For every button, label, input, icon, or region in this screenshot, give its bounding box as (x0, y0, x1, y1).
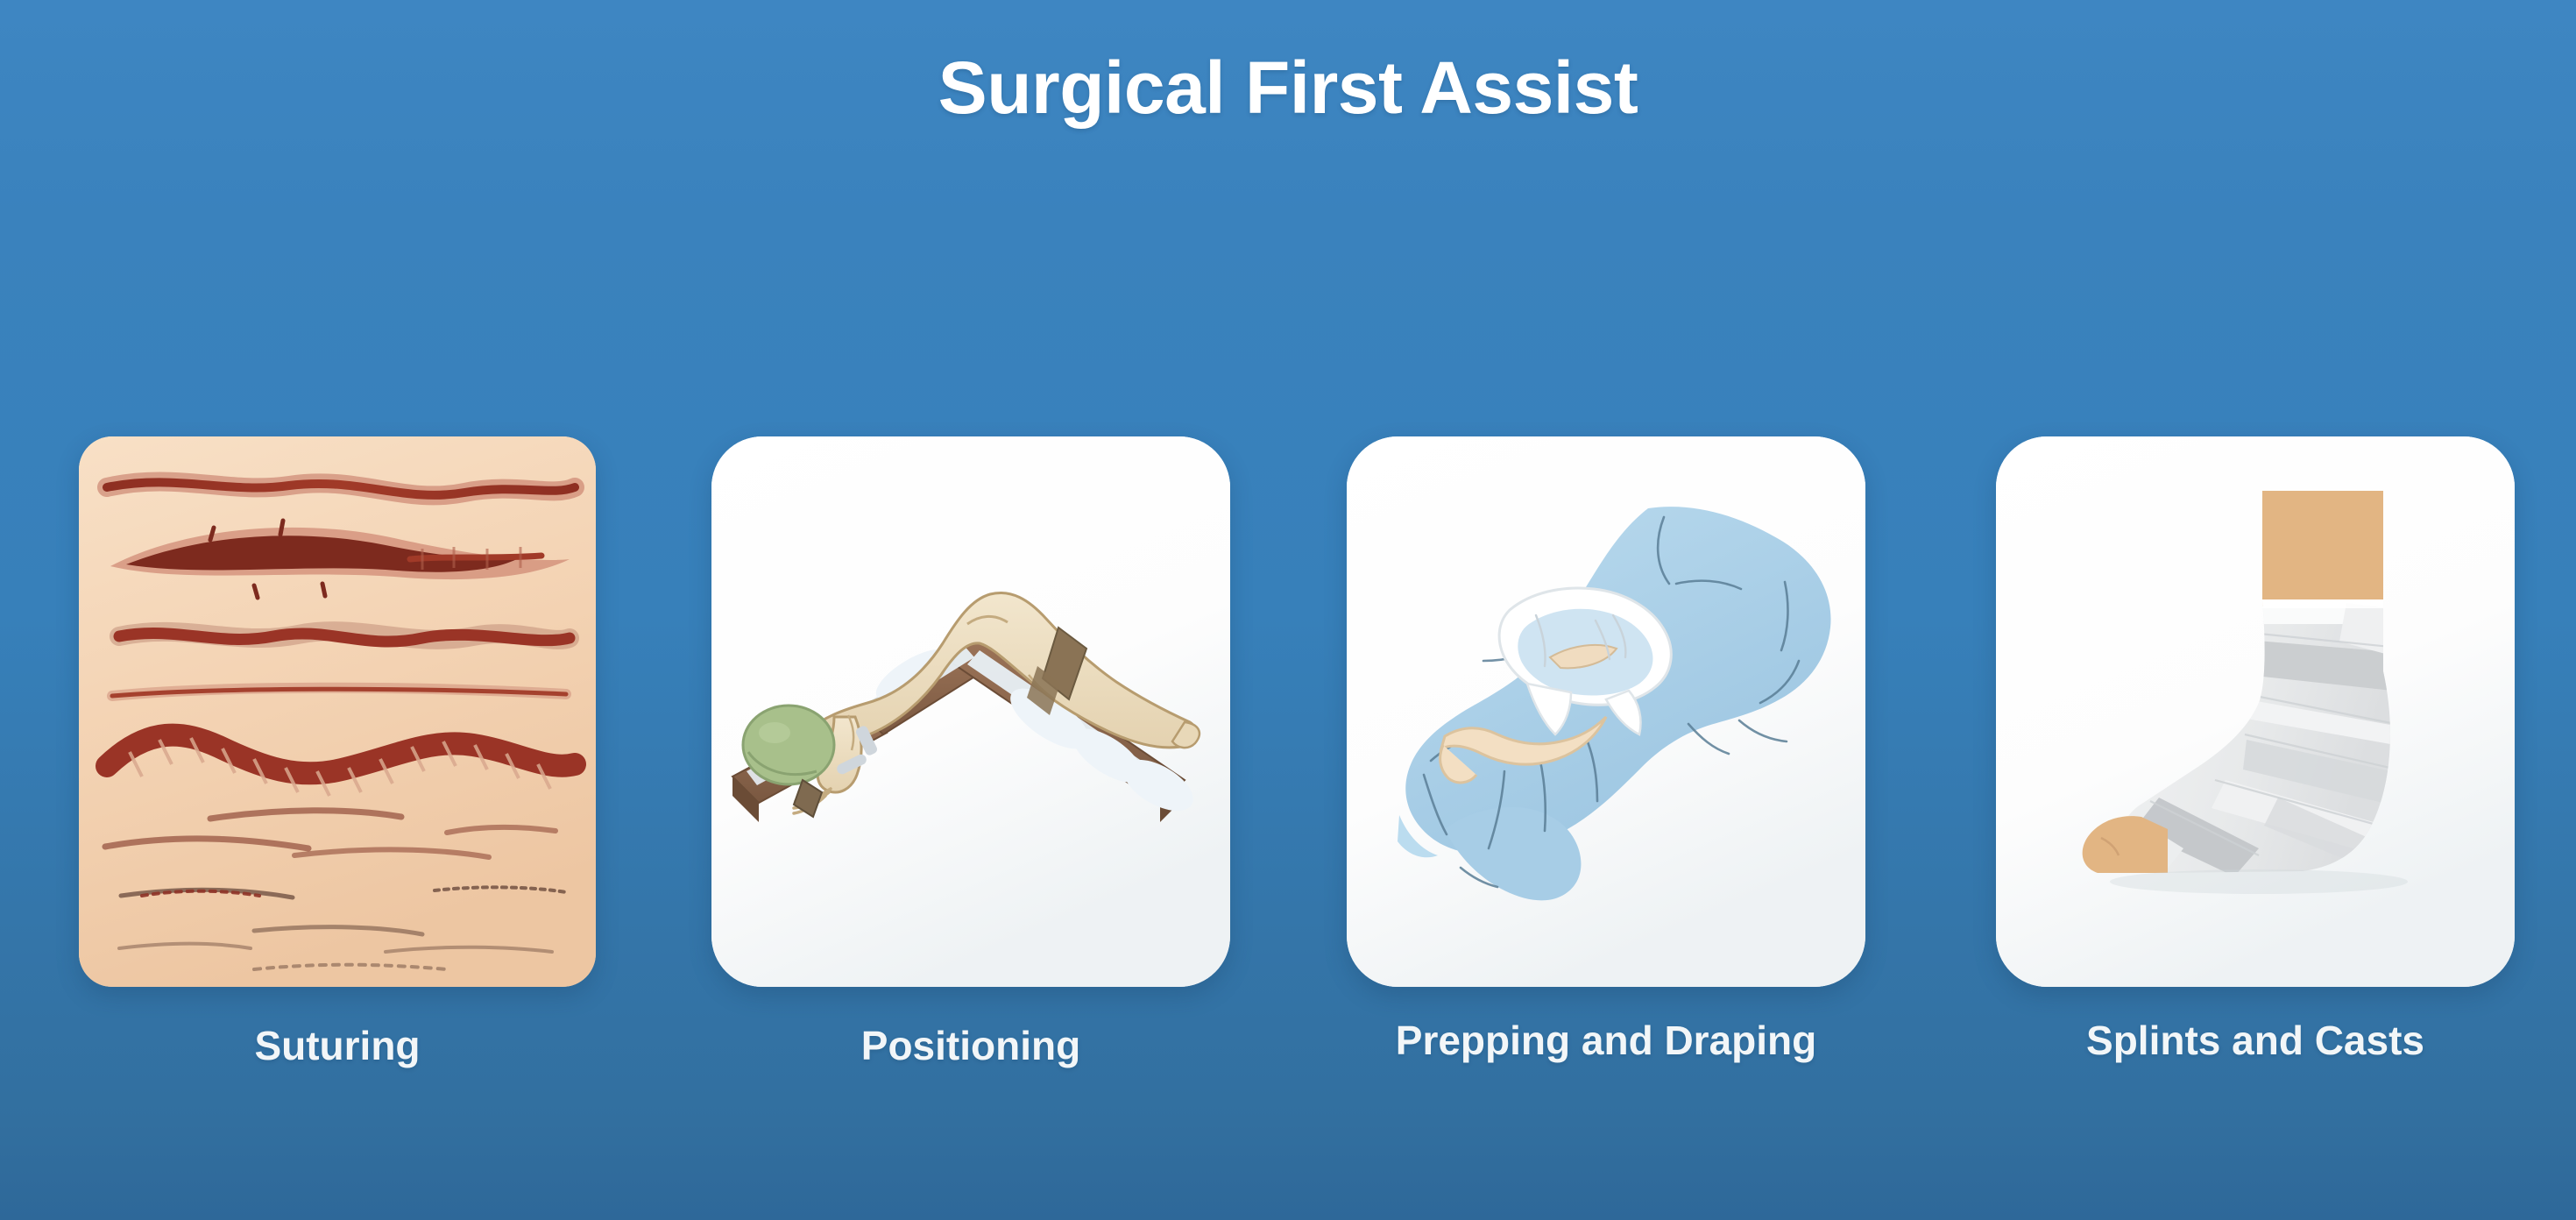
card-label-suturing: Suturing (79, 1025, 596, 1066)
card-prepping-and-draping[interactable]: Prepping and Draping (1347, 436, 1865, 987)
card-label-prepping-and-draping: Prepping and Draping (1347, 1020, 1865, 1060)
card-positioning[interactable]: Positioning (711, 436, 1230, 987)
prepping-draping-card-surface[interactable] (1347, 436, 1865, 987)
suturing-card-surface[interactable] (79, 436, 596, 987)
page-title: Surgical First Assist (0, 51, 2576, 124)
card-splints-and-casts[interactable]: Splints and Casts (1996, 436, 2515, 987)
card-suturing[interactable]: Suturing (79, 436, 596, 987)
prone-jackknife-patient-positioning-illustration (711, 436, 1230, 987)
surgical-drape-fenestration-illustration (1347, 436, 1865, 987)
positioning-card-surface[interactable] (711, 436, 1230, 987)
splints-casts-card-surface[interactable] (1996, 436, 2515, 987)
card-label-splints-and-casts: Splints and Casts (1996, 1020, 2515, 1060)
suturing-wound-pad-illustration (79, 436, 596, 987)
card-label-positioning: Positioning (711, 1025, 1230, 1066)
bandaged-foot-cast-illustration (1996, 436, 2515, 987)
slide-root: Surgical First Assist (0, 0, 2576, 1220)
card-grid: Suturing (0, 436, 2576, 997)
